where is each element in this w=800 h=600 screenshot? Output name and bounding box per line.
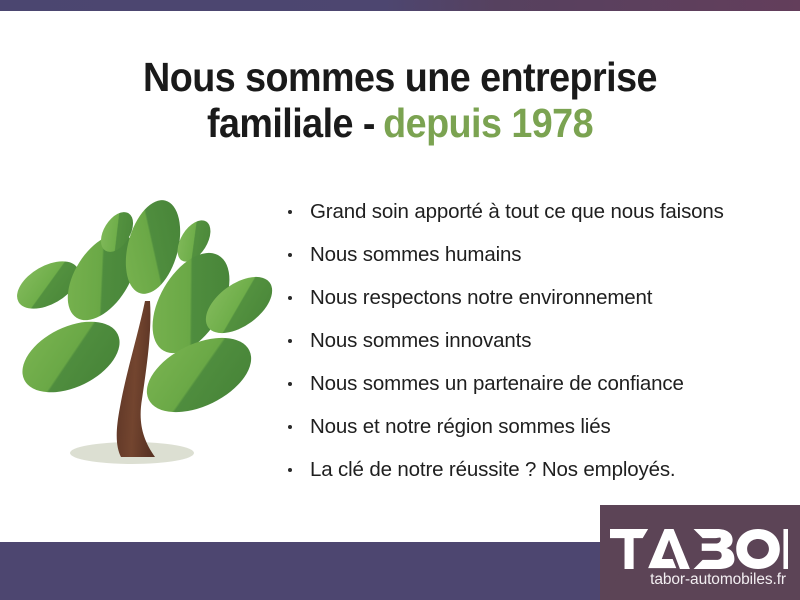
list-item-label: Nous sommes un partenaire de confiance <box>310 372 684 395</box>
list-item: Nous sommes un partenaire de confiance <box>283 362 783 405</box>
tree-illustration <box>14 185 276 490</box>
bullet-dot-icon <box>288 339 292 343</box>
value-bullet-list: Grand soin apporté à tout ce que nous fa… <box>283 190 783 491</box>
brand-logo[interactable]: tabor-automobiles.fr <box>592 529 788 588</box>
list-item: Nous respectons notre environnement <box>283 276 783 319</box>
list-item: Grand soin apporté à tout ce que nous fa… <box>283 190 783 233</box>
top-accent-bar <box>0 0 800 11</box>
title-line-1: Nous sommes une entreprise <box>32 55 768 101</box>
list-item-label: Nous sommes innovants <box>310 329 531 352</box>
title-line-2: familiale -depuis 1978 <box>32 101 768 147</box>
bullet-dot-icon <box>288 253 292 257</box>
list-item: Nous sommes innovants <box>283 319 783 362</box>
tabor-wordmark-icon <box>610 529 788 569</box>
bullet-dot-icon <box>288 296 292 300</box>
brand-url-label: tabor-automobiles.fr <box>592 571 788 588</box>
page-title: Nous sommes une entreprise familiale -de… <box>32 55 768 147</box>
list-item-label: La clé de notre réussite ? Nos employés. <box>310 458 675 481</box>
list-item: Nous et notre région sommes liés <box>283 405 783 448</box>
list-item-label: Nous respectons notre environnement <box>310 286 652 309</box>
slide-canvas: Nous sommes une entreprise familiale -de… <box>0 0 800 600</box>
tree-trunk <box>117 301 155 457</box>
bullet-dot-icon <box>288 210 292 214</box>
bullet-dot-icon <box>288 425 292 429</box>
list-item-label: Nous et notre région sommes liés <box>310 415 611 438</box>
title-line-2-accent: depuis 1978 <box>383 100 593 146</box>
bullet-dot-icon <box>288 468 292 472</box>
leaf <box>14 307 131 407</box>
title-line-2-plain: familiale - <box>207 100 375 146</box>
bullet-dot-icon <box>288 382 292 386</box>
list-item-label: Grand soin apporté à tout ce que nous fa… <box>310 200 724 223</box>
list-item-label: Nous sommes humains <box>310 243 521 266</box>
list-item: Nous sommes humains <box>283 233 783 276</box>
list-item: La clé de notre réussite ? Nos employés. <box>283 448 783 491</box>
